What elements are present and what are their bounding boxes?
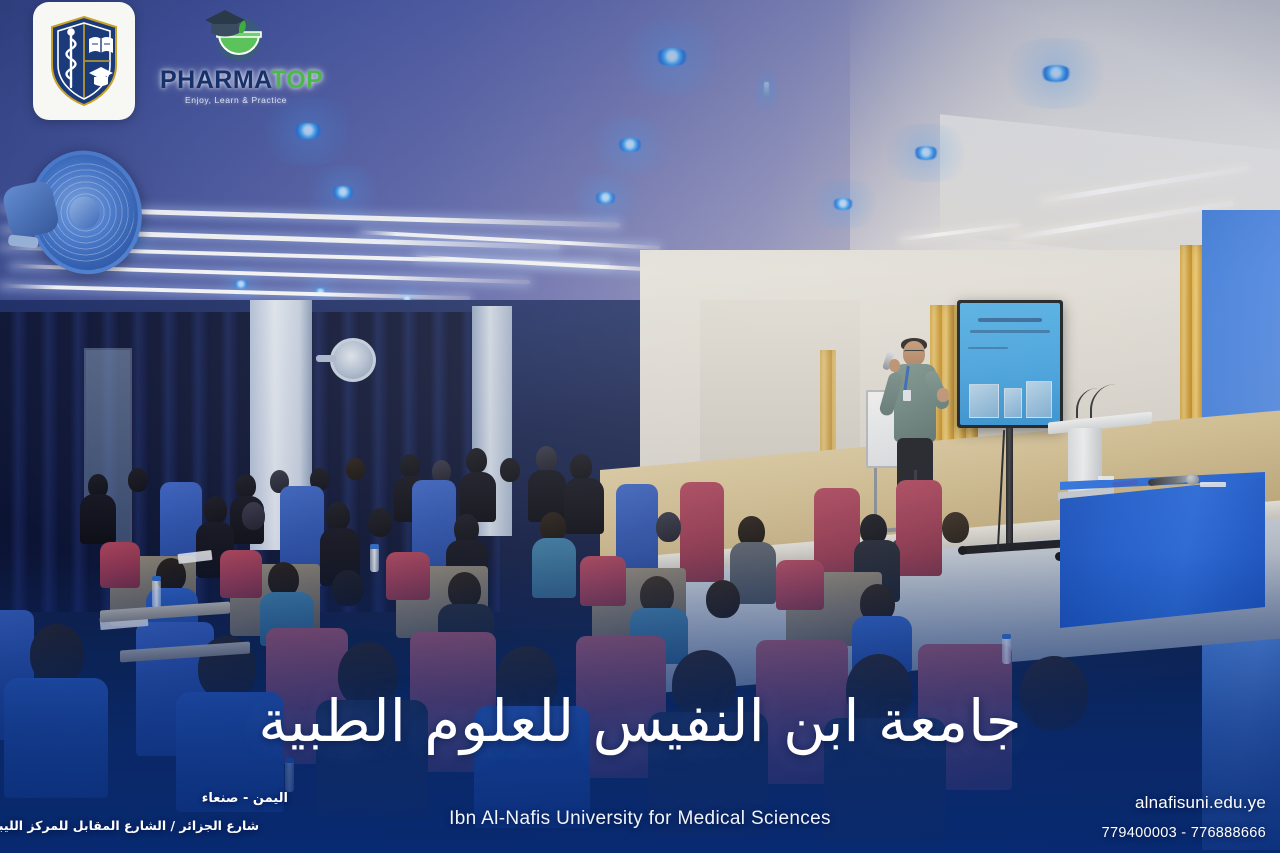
- attendee-head: [368, 508, 392, 537]
- attendee-body: [80, 494, 116, 544]
- small-wall-fan: [330, 338, 376, 382]
- slide-subtitle-line: [970, 330, 1050, 333]
- ceiling-downlight: [1040, 65, 1072, 82]
- open-book-icon: [89, 37, 113, 53]
- attendee-head: [236, 474, 256, 498]
- small-wall-fan-arm: [316, 355, 336, 362]
- slide-body-line: [968, 347, 1008, 349]
- attendee-body: [532, 538, 576, 598]
- auditorium-seat: [100, 542, 140, 588]
- auditorium-seat: [680, 482, 724, 582]
- microphone-head: [1186, 474, 1199, 485]
- attendee-head: [942, 512, 969, 543]
- speaker-left-hand: [889, 359, 900, 372]
- display-stand-pole: [1006, 428, 1013, 546]
- pharmatop-logo: PHARMATOP Enjoy, Learn & Practice: [160, 8, 312, 108]
- speaker-glasses: [904, 350, 924, 355]
- attendee-head: [570, 454, 592, 480]
- speaker-badge: [903, 390, 911, 401]
- slide-title-line: [978, 318, 1042, 322]
- attendee-head: [500, 458, 520, 482]
- ceiling-downlight: [594, 192, 617, 204]
- table-paper: [1098, 476, 1114, 480]
- attendee-head: [706, 580, 740, 618]
- speaker-right-hand: [937, 388, 949, 402]
- table-paper: [1200, 482, 1226, 487]
- pendant-sensor: [764, 82, 769, 98]
- address-street: شارع الجزائر / الشارع المقابل للمركز الل…: [0, 818, 259, 833]
- pharmatop-tagline: Enjoy, Learn & Practice: [160, 95, 312, 105]
- pharmatop-word-primary: PHARMA: [160, 66, 271, 94]
- presentation-slide: [960, 303, 1060, 425]
- attendee-head: [204, 496, 227, 524]
- presentation-display: [957, 300, 1063, 428]
- pharmatop-wordmark: PHARMATOP: [160, 68, 312, 93]
- water-bottle-cap: [152, 576, 161, 581]
- ceiling-downlight: [233, 280, 249, 289]
- slide-figure: [969, 384, 999, 418]
- ceiling-downlight: [331, 186, 355, 199]
- auditorium-seat: [580, 556, 626, 606]
- pharmatop-word-accent: TOP: [271, 66, 323, 94]
- water-bottle-cap: [1002, 634, 1011, 639]
- attendee-head: [346, 458, 365, 480]
- attendee-head: [536, 446, 557, 471]
- auditorium-seat: [776, 560, 824, 610]
- auditorium-seat: [220, 550, 262, 598]
- ceiling-downlight: [617, 138, 643, 152]
- water-bottle: [285, 762, 294, 792]
- attendee-head: [466, 448, 487, 473]
- university-name-arabic: جامعة ابن النفيس للعلوم الطبية: [0, 690, 1280, 754]
- slide-figure: [1004, 388, 1022, 417]
- attendee-head: [656, 512, 681, 542]
- auditorium-seat: [896, 480, 942, 576]
- attendee-head: [128, 468, 148, 492]
- water-bottle: [370, 548, 379, 572]
- attendee-body: [564, 478, 604, 534]
- water-bottle: [152, 580, 161, 608]
- water-bottle: [1002, 638, 1011, 664]
- attendee-head: [332, 570, 364, 606]
- attendee-head: [242, 502, 265, 530]
- attendee-head: [400, 454, 420, 478]
- ceiling-downlight: [293, 123, 323, 139]
- website-url: alnafisuni.edu.ye: [1135, 793, 1266, 813]
- university-shield-logo: [33, 2, 135, 120]
- fan-bracket: [8, 234, 39, 248]
- ceiling-downlight: [832, 198, 854, 210]
- water-bottle-cap: [370, 544, 379, 549]
- auditorium-seat: [386, 552, 430, 600]
- event-photo-canvas: PHARMATOP Enjoy, Learn & Practice جامعة …: [0, 0, 1280, 853]
- attendee-head: [326, 502, 350, 531]
- ceiling-downlight: [655, 48, 689, 66]
- attendee-head: [30, 624, 84, 684]
- water-bottle-cap: [285, 758, 294, 763]
- draped-table: [1060, 478, 1265, 628]
- slide-figure: [1026, 381, 1052, 418]
- phone-numbers: 779400003 - 776888666: [1102, 825, 1266, 841]
- ceiling-downlight: [913, 146, 939, 160]
- address-city: اليمن - صنعاء: [0, 791, 288, 806]
